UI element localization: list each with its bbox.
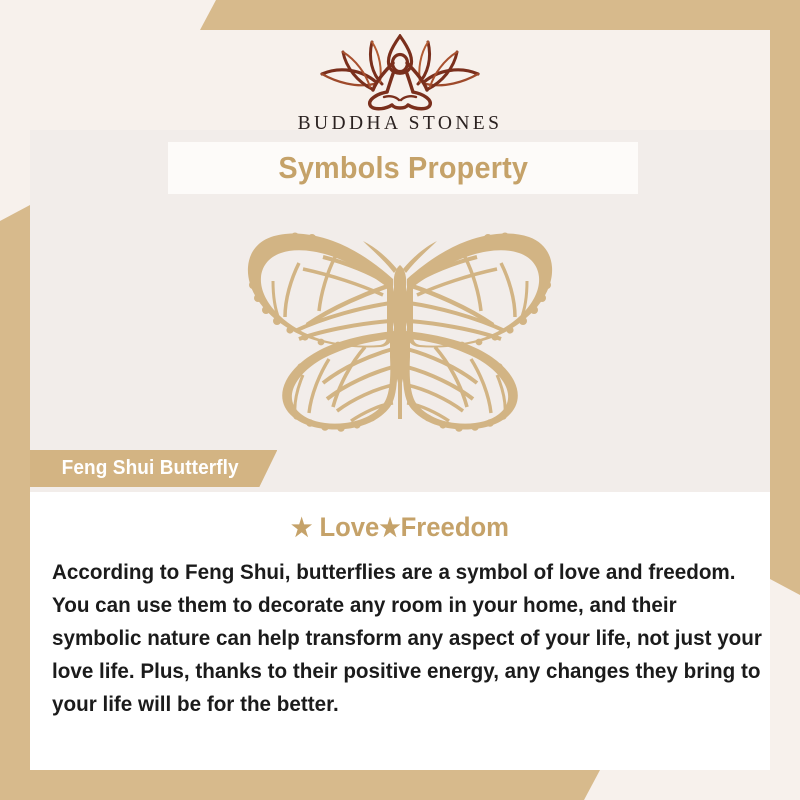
page-title-plaque: Symbols Property — [168, 142, 638, 194]
decorative-border-right — [770, 0, 800, 595]
illustration-area — [30, 202, 770, 452]
star-icon-middle: ★ — [379, 514, 400, 542]
description-text-wrap: According to Feng Shui, butterflies are … — [52, 548, 770, 721]
brand-header: BUDDHA STONES — [30, 30, 770, 130]
subtitle-word-love: Love — [319, 512, 379, 542]
lotus-meditation-icon — [310, 34, 490, 112]
decorative-border-top — [200, 0, 800, 30]
decorative-border-left — [0, 205, 30, 800]
page-title: Symbols Property — [278, 150, 528, 186]
description-panel: ★ Love★Freedom According to Feng Shui, b… — [30, 492, 770, 770]
section-subtitle: ★ Love★Freedom — [49, 492, 752, 543]
subtitle-word-freedom: Freedom — [401, 512, 509, 542]
poster-root: BUDDHA STONES Symbols Property — [0, 0, 800, 800]
brand-name: BUDDHA STONES — [298, 113, 503, 135]
decorative-border-bottom — [0, 770, 600, 800]
content-panel: BUDDHA STONES Symbols Property — [30, 30, 770, 770]
brand-logo: BUDDHA STONES — [30, 34, 770, 135]
section-banner: Feng Shui Butterfly — [30, 450, 277, 487]
star-icon-left: ★ — [291, 514, 312, 542]
butterfly-icon — [215, 207, 585, 447]
section-banner-label: Feng Shui Butterfly — [62, 457, 239, 480]
description-text: According to Feng Shui, butterflies are … — [52, 548, 770, 721]
